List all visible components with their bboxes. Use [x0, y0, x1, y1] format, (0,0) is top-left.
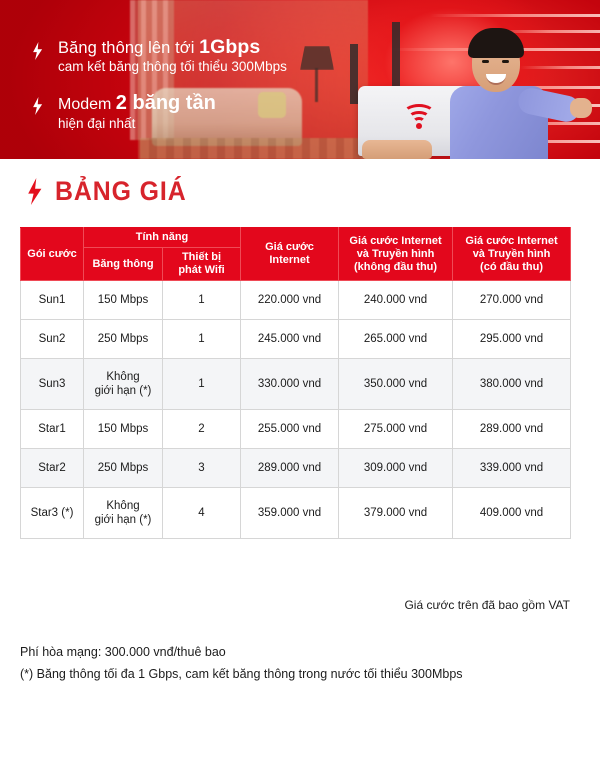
bullet-0-highlight: 1Gbps — [199, 36, 260, 58]
th-wifi-device-l1: Thiết bị — [166, 251, 237, 264]
banner-bullet-0: Băng thông lên tới 1Gbps cam kết băng th… — [28, 38, 348, 76]
banner-bullet-1: Modem 2 băng tần hiện đại nhất — [28, 93, 348, 133]
cell-package: Star3 (*) — [21, 488, 84, 539]
bullet-1-line1: Modem 2 băng tần — [58, 93, 348, 115]
cell-package: Sun3 — [21, 359, 84, 410]
cell-bandwidth: 250 Mbps — [84, 320, 163, 359]
table-header: Gói cước Tính năng Giá cước Internet Giá… — [21, 228, 571, 281]
cell-tv-no-box: 240.000 vnd — [339, 281, 453, 320]
lightning-bolt-icon — [32, 97, 43, 115]
cell-bandwidth-l1: 150 Mbps — [86, 293, 160, 307]
th-wifi-device: Thiết bị phát Wifi — [163, 248, 241, 281]
lightning-bolt-icon — [27, 178, 42, 205]
table-row[interactable]: Star1 150 Mbps 2 255.000 vnd 275.000 vnd… — [21, 410, 571, 449]
section-title-row: BẢNG GIÁ — [27, 176, 198, 207]
table-body: Sun1 150 Mbps 1 220.000 vnd 240.000 vnd … — [21, 281, 571, 539]
th-internet-price-l1: Giá cước — [244, 241, 335, 254]
table-row[interactable]: Star3 (*) Khônggiới hạn (*) 4 359.000 vn… — [21, 488, 571, 539]
cell-wifi-devices: 1 — [163, 359, 241, 410]
cell-internet-price: 220.000 vnd — [241, 281, 339, 320]
cell-bandwidth: 150 Mbps — [84, 281, 163, 320]
cell-internet-price: 330.000 vnd — [241, 359, 339, 410]
th-tv-with-box-l1: Giá cước Internet — [456, 235, 567, 248]
cell-bandwidth: Khônggiới hạn (*) — [84, 488, 163, 539]
table-row[interactable]: Sun2 250 Mbps 1 245.000 vnd 265.000 vnd … — [21, 320, 571, 359]
cell-tv-with-box: 409.000 vnd — [453, 488, 571, 539]
cell-bandwidth-l2: giới hạn (*) — [86, 513, 160, 527]
hand-holding-laptop — [362, 140, 432, 159]
table-row[interactable]: Sun3 Khônggiới hạn (*) 1 330.000 vnd 350… — [21, 359, 571, 410]
table-row[interactable]: Sun1 150 Mbps 1 220.000 vnd 240.000 vnd … — [21, 281, 571, 320]
promo-banner: Băng thông lên tới 1Gbps cam kết băng th… — [0, 0, 600, 159]
cell-bandwidth: 150 Mbps — [84, 410, 163, 449]
wifi-icon — [402, 104, 436, 130]
bullet-0-line2: cam kết băng thông tối thiểu 300Mbps — [58, 58, 348, 76]
th-tv-no-box-l2: và Truyền hình — [342, 248, 449, 261]
table-row[interactable]: Star2 250 Mbps 3 289.000 vnd 309.000 vnd… — [21, 449, 571, 488]
cell-wifi-devices: 2 — [163, 410, 241, 449]
cell-bandwidth-l1: 150 Mbps — [86, 422, 160, 436]
cell-tv-no-box: 350.000 vnd — [339, 359, 453, 410]
cell-tv-with-box: 339.000 vnd — [453, 449, 571, 488]
cell-package: Star1 — [21, 410, 84, 449]
bullet-0-line1: Băng thông lên tới 1Gbps — [58, 38, 348, 58]
cell-bandwidth-l1: 250 Mbps — [86, 332, 160, 346]
cell-bandwidth: 250 Mbps — [84, 449, 163, 488]
cell-tv-with-box: 380.000 vnd — [453, 359, 571, 410]
cell-wifi-devices: 3 — [163, 449, 241, 488]
cell-tv-no-box: 309.000 vnd — [339, 449, 453, 488]
footer-notes: Phí hòa mạng: 300.000 vnđ/thuê bao (*) B… — [20, 641, 463, 685]
cell-tv-no-box: 275.000 vnd — [339, 410, 453, 449]
bullet-1-highlight: 2 băng tần — [116, 92, 216, 114]
th-wifi-device-l2: phát Wifi — [166, 264, 237, 277]
cell-bandwidth-l2: giới hạn (*) — [86, 384, 160, 398]
cell-tv-no-box: 379.000 vnd — [339, 488, 453, 539]
th-tv-with-box-l3: (có đầu thu) — [456, 261, 567, 274]
th-tv-no-box: Giá cước Internet và Truyền hình (không … — [339, 228, 453, 281]
cell-internet-price: 289.000 vnd — [241, 449, 339, 488]
page-title: BẢNG GIÁ — [55, 176, 187, 207]
cell-bandwidth-l1: Không — [86, 499, 160, 513]
th-features-group: Tính năng — [84, 228, 241, 248]
th-tv-no-box-l1: Giá cước Internet — [342, 235, 449, 248]
lightning-bolt-icon — [32, 42, 43, 60]
vat-note: Giá cước trên đã bao gồm VAT — [404, 598, 570, 612]
person-photo — [432, 16, 582, 159]
cell-bandwidth-l1: 250 Mbps — [86, 461, 160, 475]
cell-bandwidth-l1: Không — [86, 370, 160, 384]
cell-wifi-devices: 1 — [163, 320, 241, 359]
banner-bullet-list: Băng thông lên tới 1Gbps cam kết băng th… — [28, 38, 348, 150]
bullet-1-prefix: Modem — [58, 96, 116, 113]
cell-wifi-devices: 4 — [163, 488, 241, 539]
table-header-row-1: Gói cước Tính năng Giá cước Internet Giá… — [21, 228, 571, 248]
th-internet-price-l2: Internet — [244, 254, 335, 267]
bullet-0-prefix: Băng thông lên tới — [58, 39, 199, 57]
cell-internet-price: 245.000 vnd — [241, 320, 339, 359]
th-tv-with-box: Giá cước Internet và Truyền hình (có đầu… — [453, 228, 571, 281]
cell-tv-with-box: 289.000 vnd — [453, 410, 571, 449]
cell-package: Sun2 — [21, 320, 84, 359]
th-internet-price: Giá cước Internet — [241, 228, 339, 281]
th-tv-with-box-l2: và Truyền hình — [456, 248, 567, 261]
bullet-1-line2: hiện đại nhất — [58, 115, 348, 133]
th-package: Gói cước — [21, 228, 84, 281]
cell-wifi-devices: 1 — [163, 281, 241, 320]
cell-tv-with-box: 295.000 vnd — [453, 320, 571, 359]
th-tv-no-box-l3: (không đầu thu) — [342, 261, 449, 274]
footer-note-line-1: Phí hòa mạng: 300.000 vnđ/thuê bao — [20, 641, 463, 663]
cell-tv-with-box: 270.000 vnd — [453, 281, 571, 320]
cell-internet-price: 359.000 vnd — [241, 488, 339, 539]
cell-package: Sun1 — [21, 281, 84, 320]
price-table: Gói cước Tính năng Giá cước Internet Giá… — [20, 227, 571, 539]
th-bandwidth: Băng thông — [84, 248, 163, 281]
cell-bandwidth: Khônggiới hạn (*) — [84, 359, 163, 410]
cell-internet-price: 255.000 vnd — [241, 410, 339, 449]
footer-note-line-2: (*) Băng thông tối đa 1 Gbps, cam kết bă… — [20, 663, 463, 685]
cell-tv-no-box: 265.000 vnd — [339, 320, 453, 359]
cell-package: Star2 — [21, 449, 84, 488]
